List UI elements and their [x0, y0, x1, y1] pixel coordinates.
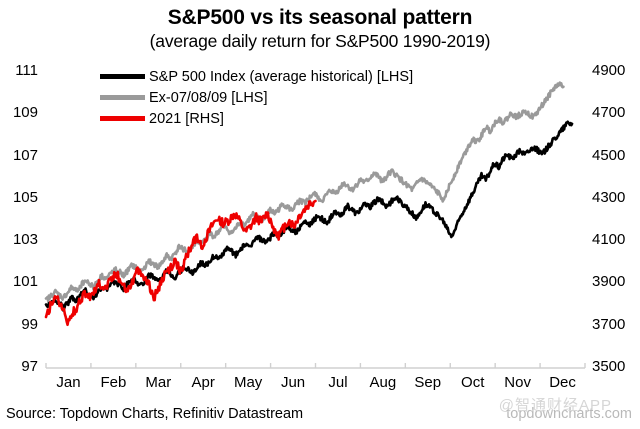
x-tick-aug: Aug: [358, 374, 408, 391]
y-tick-left-1: 99: [2, 316, 38, 333]
y-tick-right-1: 3700: [592, 316, 638, 333]
y-tick-left-4: 105: [2, 189, 38, 206]
axis-layer: [46, 363, 585, 368]
cn-watermark: @智通财经APP: [499, 394, 612, 415]
y-tick-left-3: 103: [2, 231, 38, 248]
chart-root: S&P500 vs its seasonal pattern (average …: [0, 0, 640, 429]
y-tick-left-0: 97: [2, 358, 38, 375]
x-tick-may: May: [223, 374, 273, 391]
x-tick-jul: Jul: [313, 374, 363, 391]
series-line-1: [46, 83, 563, 301]
y-tick-right-3: 4100: [592, 231, 638, 248]
series-line-2: [46, 201, 316, 325]
x-tick-dec: Dec: [538, 374, 588, 391]
y-tick-left-2: 101: [2, 273, 38, 290]
x-tick-sep: Sep: [403, 374, 453, 391]
x-tick-oct: Oct: [448, 374, 498, 391]
y-tick-left-7: 111: [2, 62, 38, 79]
series-line-0: [46, 122, 572, 311]
y-tick-right-7: 4900: [592, 62, 638, 79]
x-tick-jun: Jun: [268, 374, 318, 391]
x-tick-jan: Jan: [43, 374, 93, 391]
plot-svg: [0, 0, 640, 429]
x-tick-nov: Nov: [493, 374, 543, 391]
y-tick-right-5: 4500: [592, 147, 638, 164]
y-tick-left-6: 109: [2, 104, 38, 121]
y-tick-right-4: 4300: [592, 189, 638, 206]
y-tick-right-2: 3900: [592, 273, 638, 290]
y-tick-right-0: 3500: [592, 358, 638, 375]
source-note: Source: Topdown Charts, Refinitiv Datast…: [6, 406, 303, 422]
x-tick-apr: Apr: [178, 374, 228, 391]
x-tick-feb: Feb: [88, 374, 138, 391]
series-layer: [46, 83, 572, 325]
x-tick-mar: Mar: [133, 374, 183, 391]
y-tick-right-6: 4700: [592, 104, 638, 121]
y-tick-left-5: 107: [2, 147, 38, 164]
